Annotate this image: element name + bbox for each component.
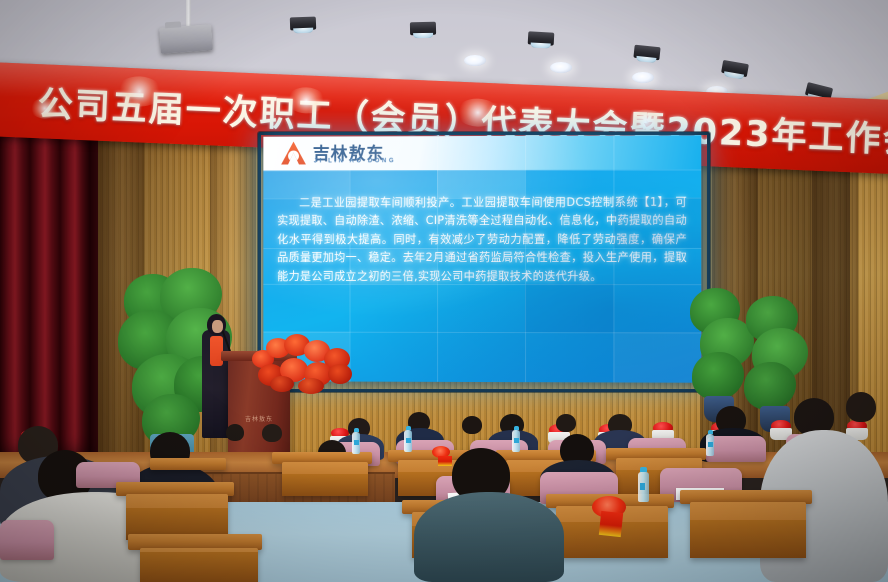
panel-seam-h — [263, 248, 701, 249]
audience-chair — [0, 520, 54, 560]
slide-paragraph-text: 二是工业园提取车间顺利投产。工业园提取车间使用DCS控制系统【1】，可实现提取、… — [277, 196, 687, 283]
downlight-icon — [464, 55, 486, 66]
audience-desk — [140, 548, 258, 582]
podium-flower-arrangement — [250, 334, 358, 392]
rosette-ribbon — [599, 511, 623, 537]
panel-seam-v — [613, 136, 614, 383]
desk-front-panel — [140, 552, 258, 582]
water-bottle — [706, 434, 714, 456]
slide-paragraph: 二是工业园提取车间顺利投产。工业园提取车间使用DCS控制系统【1】，可实现提取、… — [277, 194, 687, 287]
water-bottle — [512, 430, 520, 452]
bottle-cap — [708, 430, 713, 434]
projector-mount-rod — [186, 0, 191, 28]
aodong-logo-icon — [281, 142, 306, 165]
bottle-cap — [514, 426, 519, 430]
downlight-icon — [550, 62, 572, 73]
bottle-cap — [640, 467, 647, 472]
audience-head — [846, 392, 876, 422]
bottle-cap — [406, 426, 411, 430]
stage-curtain — [0, 112, 98, 452]
panel-seam-v — [437, 136, 438, 382]
desk-front-panel — [282, 474, 368, 496]
panel-tint — [525, 284, 613, 332]
slide-header-bar: 吉林敖东 JI LIN AO DONG — [263, 135, 701, 170]
audience-desk — [282, 462, 368, 496]
flower-petal — [328, 364, 352, 384]
ceiling-projector-icon — [159, 24, 213, 54]
panel-seam-v — [525, 136, 526, 382]
spotlight-icon — [528, 31, 555, 45]
audience-head — [262, 424, 282, 442]
conference-hall-photo: 公司五届一次职工（会员）代表大会暨2023年工作会议 吉林敖东 JI LIN A… — [0, 0, 888, 582]
logo-english-text: JI LIN AO DONG — [314, 158, 396, 164]
plant-foliage — [692, 352, 744, 400]
spotlight-icon — [633, 45, 660, 61]
desk-front-panel — [690, 520, 806, 558]
rosette-ribbon — [438, 456, 452, 466]
panel-tint — [613, 332, 701, 382]
water-bottle — [638, 472, 649, 502]
audience-chair — [706, 436, 766, 462]
bottle-cap — [354, 428, 359, 432]
water-bottle — [352, 432, 360, 454]
audience-desk — [150, 458, 226, 470]
podium-logo-text: 吉林敖东 — [245, 414, 273, 423]
audience-head — [462, 416, 482, 434]
plant-foliage — [744, 362, 796, 410]
water-bottle — [404, 430, 412, 452]
audience-head — [226, 424, 244, 441]
audience-shoulders-foreground — [414, 492, 564, 582]
flower-petal — [298, 378, 324, 394]
spotlight-icon — [410, 22, 436, 35]
panel-seam-h — [263, 169, 701, 171]
downlight-icon — [632, 72, 654, 83]
flower-petal — [270, 376, 294, 392]
audience-head — [556, 414, 576, 432]
audience-desk — [690, 502, 806, 558]
spotlight-icon — [290, 17, 316, 31]
